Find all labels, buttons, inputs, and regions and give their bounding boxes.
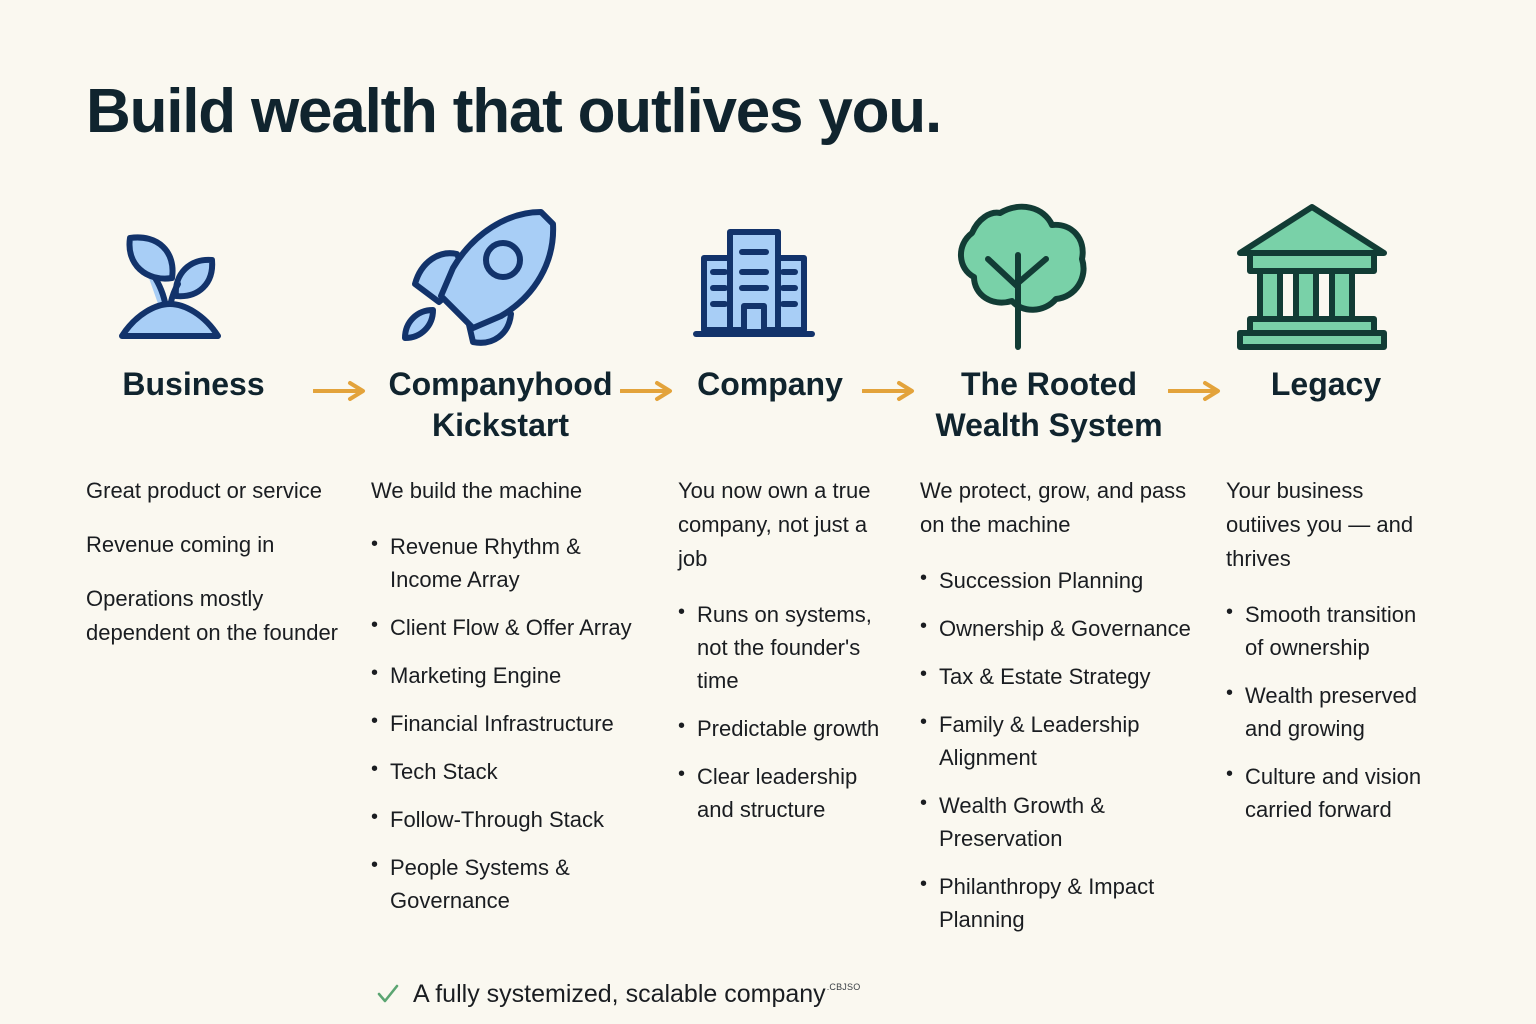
- list-item: People Systems & Governance: [371, 851, 652, 917]
- lead-paragraph: Revenue coming in: [86, 528, 345, 562]
- stage-lead: You now own a true company, not just a j…: [678, 474, 894, 576]
- stage-name: Legacy: [1226, 356, 1454, 405]
- list-item: Clear leadership and structure: [678, 760, 894, 826]
- lead-paragraph: We protect, grow, and pass on the machin…: [920, 474, 1200, 542]
- stage-bullet-list: Runs on systems, not the founder's time …: [678, 598, 894, 826]
- stage-lead: Great product or service Revenue coming …: [86, 474, 345, 650]
- list-item: Tech Stack: [371, 755, 652, 788]
- stage-column-companyhood-kickstart: Companyhood Kickstart We build the machi…: [371, 196, 678, 936]
- arrow-right-icon: [862, 380, 918, 402]
- stage-bullet-list: Succession Planning Ownership & Governan…: [920, 564, 1200, 936]
- list-item: Succession Planning: [920, 564, 1200, 597]
- lead-paragraph: Great product or service: [86, 474, 345, 508]
- list-item: Follow-Through Stack: [371, 803, 652, 836]
- footnote-superscript: .CBJSO: [827, 982, 861, 992]
- stage-header-rooted-wealth-system: The Rooted Wealth System: [920, 356, 1226, 452]
- check-icon: [376, 982, 400, 1006]
- footnote: A fully systemized, scalable company.CBJ…: [376, 978, 860, 1007]
- stage-lead: We build the machine: [371, 474, 652, 508]
- stage-body-business: Great product or service Revenue coming …: [86, 452, 371, 650]
- bank-building-icon: [1226, 196, 1454, 356]
- stage-body-companyhood-kickstart: We build the machine Revenue Rhythm & In…: [371, 452, 678, 917]
- list-item: Culture and vision carried forward: [1226, 760, 1428, 826]
- list-item: Smooth transition of ownership: [1226, 598, 1428, 664]
- list-item: Financial Infrastructure: [371, 707, 652, 740]
- list-item: Wealth Growth & Preservation: [920, 789, 1200, 855]
- stage-column-rooted-wealth-system: The Rooted Wealth System We protect, gro…: [920, 196, 1226, 936]
- rocket-icon: [371, 196, 678, 356]
- list-item: Revenue Rhythm & Income Array: [371, 530, 652, 596]
- list-item: Philanthropy & Impact Planning: [920, 870, 1200, 936]
- list-item: Wealth preserved and growing: [1226, 679, 1428, 745]
- stage-columns: Business Great product or service Revenu…: [86, 196, 1454, 936]
- stage-header-business: Business: [86, 356, 371, 452]
- infographic-page: Build wealth that outlives you. Business: [0, 0, 1536, 1024]
- list-item: Predictable growth: [678, 712, 894, 745]
- stage-column-company: Company You now own a true company, not …: [678, 196, 920, 936]
- stage-column-business: Business Great product or service Revenu…: [86, 196, 371, 936]
- stage-column-legacy: Legacy Your business outiives you — and …: [1226, 196, 1454, 936]
- stage-header-companyhood-kickstart: Companyhood Kickstart: [371, 356, 678, 452]
- footnote-text-wrap: A fully systemized, scalable company.CBJ…: [413, 982, 860, 1007]
- office-building-icon: [678, 196, 920, 356]
- arrow-right-icon: [620, 380, 676, 402]
- stage-header-legacy: Legacy: [1226, 356, 1454, 452]
- stage-body-company: You now own a true company, not just a j…: [678, 452, 920, 826]
- list-item: Client Flow & Offer Array: [371, 611, 652, 644]
- stage-header-company: Company: [678, 356, 920, 452]
- tree-icon: [920, 196, 1226, 356]
- stage-bullet-list: Revenue Rhythm & Income Array Client Flo…: [371, 530, 652, 917]
- list-item: Runs on systems, not the founder's time: [678, 598, 894, 697]
- lead-paragraph: Your business outiives you — and thrives: [1226, 474, 1428, 576]
- list-item: Family & Leadership Alignment: [920, 708, 1200, 774]
- stage-body-rooted-wealth-system: We protect, grow, and pass on the machin…: [920, 452, 1226, 936]
- list-item: Tax & Estate Strategy: [920, 660, 1200, 693]
- footnote-label: A fully systemized, scalable company: [413, 980, 826, 1008]
- stage-lead: Your business outiives you — and thrives: [1226, 474, 1428, 576]
- stage-lead: We protect, grow, and pass on the machin…: [920, 474, 1200, 542]
- stage-body-legacy: Your business outiives you — and thrives…: [1226, 452, 1454, 826]
- lead-paragraph: Operations mostly dependent on the found…: [86, 582, 345, 650]
- seedling-icon: [86, 196, 371, 356]
- list-item: Marketing Engine: [371, 659, 652, 692]
- arrow-right-icon: [1168, 380, 1224, 402]
- lead-paragraph: We build the machine: [371, 474, 652, 508]
- lead-paragraph: You now own a true company, not just a j…: [678, 474, 894, 576]
- arrow-right-icon: [313, 380, 369, 402]
- stage-bullet-list: Smooth transition of ownership Wealth pr…: [1226, 598, 1428, 826]
- page-title: Build wealth that outlives you.: [86, 76, 941, 147]
- list-item: Ownership & Governance: [920, 612, 1200, 645]
